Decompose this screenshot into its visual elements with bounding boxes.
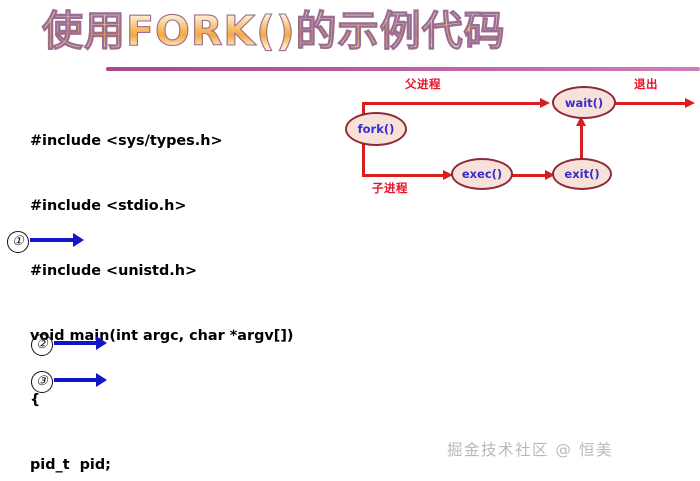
diagram-node-exec-label: exec() [462, 167, 502, 181]
code-block: #include <sys/types.h> #include <stdio.h… [30, 88, 393, 481]
step-arrow-head-3 [96, 373, 107, 387]
code-line: #include <sys/types.h> [30, 131, 393, 153]
code-line: #include <unistd.h> [30, 261, 393, 283]
diagram-label-parent: 父进程 [405, 76, 441, 92]
wire-child-to-exec [362, 174, 445, 177]
step-number-2: ② [31, 334, 53, 356]
diagram-node-fork[interactable]: fork() [345, 112, 407, 146]
diagram-node-exit[interactable]: exit() [552, 158, 612, 190]
diagram-node-wait-label: wait() [565, 96, 603, 110]
step-number-1: ① [7, 231, 29, 253]
wire-parent-arrowhead [540, 98, 550, 108]
step-arrow-head-1 [73, 233, 84, 247]
step-arrow-shaft-3 [54, 378, 99, 382]
step-arrow-head-2 [96, 336, 107, 350]
wire-wait-to-quit [615, 102, 687, 105]
diagram-node-exit-label: exit() [564, 167, 599, 181]
diagram-node-exec[interactable]: exec() [451, 158, 513, 190]
step-arrow-shaft-1 [30, 238, 76, 242]
wire-quit-arrowhead [685, 98, 695, 108]
code-line: { [30, 390, 393, 412]
diagram-node-fork-label: fork() [358, 122, 395, 136]
watermark: 掘金技术社区 @ 恒美 [447, 438, 613, 460]
code-line: #include <stdio.h> [30, 196, 393, 218]
diagram-label-quit: 退出 [634, 76, 658, 92]
step-marker-3: ③ [31, 371, 151, 393]
fork-flow-diagram: fork() exec() exit() wait() 父进程 子进程 退出 [340, 66, 700, 201]
wire-parent-to-wait [362, 102, 542, 105]
diagram-label-child: 子进程 [372, 180, 408, 196]
code-line: pid_t pid; [30, 455, 393, 477]
step-marker-1: ① [7, 231, 127, 253]
step-arrow-shaft-2 [54, 341, 99, 345]
step-marker-2: ② [31, 334, 151, 356]
diagram-node-wait[interactable]: wait() [552, 86, 616, 119]
slide-canvas: 使用FORK()的示例代码 #include <sys/types.h> #in… [0, 0, 700, 481]
step-number-3: ③ [31, 371, 53, 393]
page-title: 使用FORK()的示例代码 [42, 4, 506, 58]
